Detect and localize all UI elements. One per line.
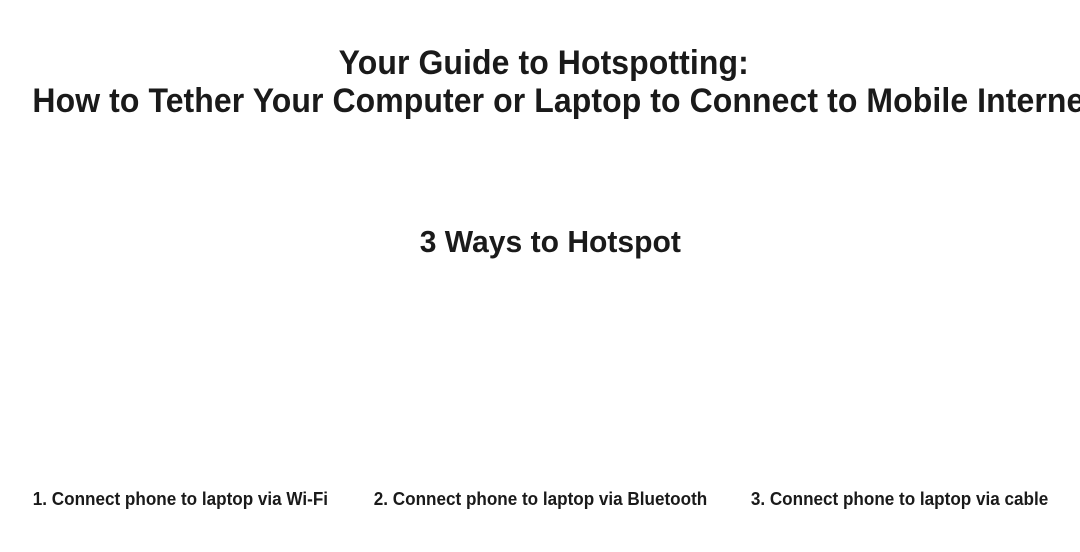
step-caption-3-label: 3. Connect phone to laptop via cable <box>751 487 1048 511</box>
illustration-slot-wifi <box>0 278 360 478</box>
title-line-2: How to Tether Your Computer or Laptop to… <box>32 82 1047 120</box>
step-caption-1-label: 1. Connect phone to laptop via Wi-Fi <box>32 487 327 511</box>
infographic-page: Your Guide to Hotspotting: How to Tether… <box>0 0 1080 552</box>
illustration-band <box>0 278 1080 478</box>
step-caption-1: 1. Connect phone to laptop via Wi-Fi <box>0 487 360 511</box>
illustration-slot-cable <box>720 278 1080 478</box>
section-heading: 3 Ways to Hotspot <box>0 224 1080 260</box>
title-line-1: Your Guide to Hotspotting: <box>32 44 1047 82</box>
step-caption-3: 3. Connect phone to laptop via cable <box>720 487 1080 511</box>
page-title: Your Guide to Hotspotting: How to Tether… <box>0 44 1080 120</box>
section-heading-label: 3 Ways to Hotspot <box>399 224 682 260</box>
illustration-slot-bluetooth <box>360 278 720 478</box>
step-caption-2: 2. Connect phone to laptop via Bluetooth <box>360 487 720 511</box>
step-captions-row: 1. Connect phone to laptop via Wi-Fi 2. … <box>0 487 1080 511</box>
step-caption-2-label: 2. Connect phone to laptop via Bluetooth <box>373 487 706 511</box>
